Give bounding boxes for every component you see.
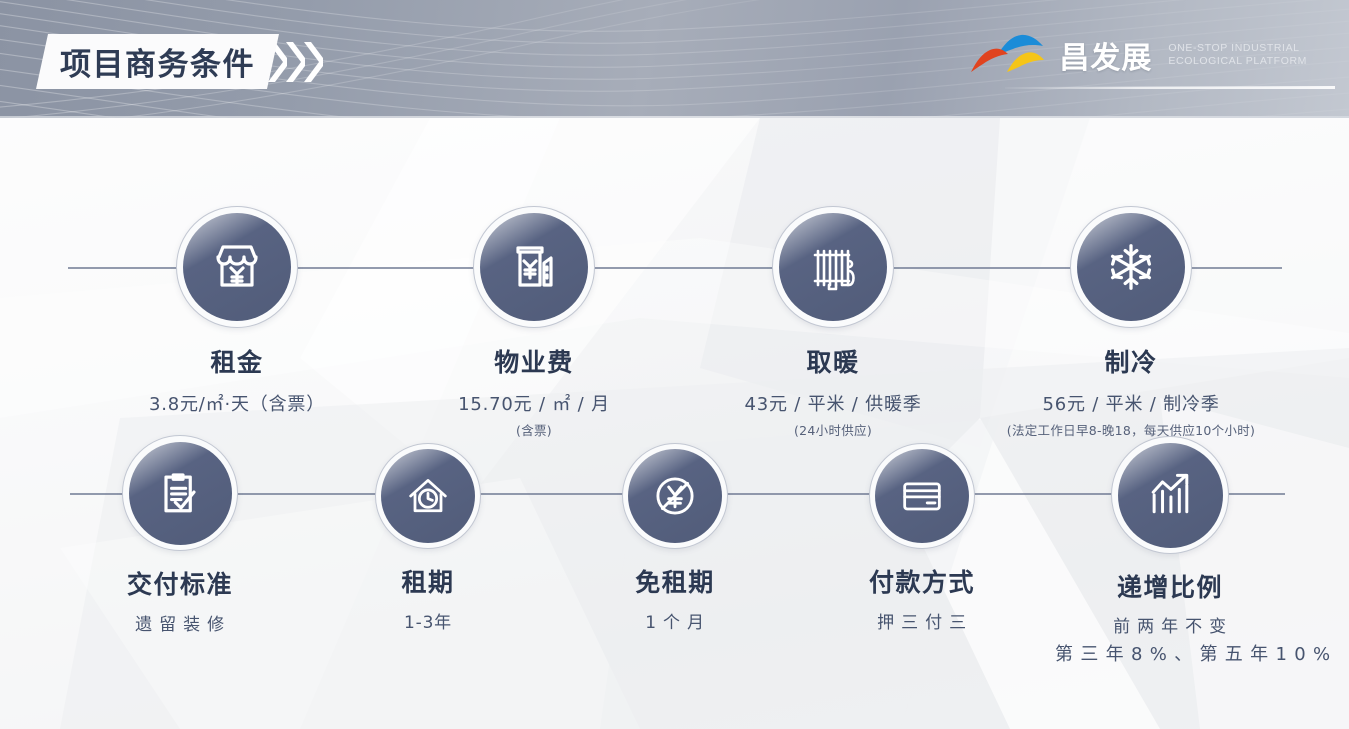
changfazhan-triangles-logo-icon bbox=[969, 32, 1047, 78]
chevron-group bbox=[269, 40, 323, 84]
growth-bar-chart-icon bbox=[1142, 467, 1198, 523]
rent-free-value: 1 个 月 bbox=[565, 608, 785, 633]
lease-term-icon-circle[interactable] bbox=[375, 443, 481, 549]
node-payment-method[interactable]: 付款方式 押 三 付 三 bbox=[812, 443, 1032, 633]
brand-logo: 昌发展 ONE-STOP INDUSTRIAL ECOLOGICAL PLATF… bbox=[969, 32, 1307, 78]
node-lease-term[interactable]: 租期 1-3年 bbox=[318, 443, 538, 633]
rent-label: 租金 bbox=[97, 343, 377, 379]
rent-free-label: 免租期 bbox=[565, 563, 785, 599]
rent-free-icon-circle[interactable] bbox=[622, 443, 728, 549]
node-increment-ratio[interactable]: 递增比例 前 两 年 不 变 第 三 年 8 % 、 第 五 年 1 0 % bbox=[1055, 436, 1285, 666]
node-cooling[interactable]: 制冷 56元 / 平米 / 制冷季 (法定工作日早8-晚18，每天供应10个小时… bbox=[991, 206, 1271, 439]
node-rent-free-period[interactable]: 免租期 1 个 月 bbox=[565, 443, 785, 633]
brand-tagline: ONE-STOP INDUSTRIAL ECOLOGICAL PLATFORM bbox=[1168, 42, 1307, 68]
increment-ratio-label: 递增比例 bbox=[1055, 568, 1285, 604]
increment-ratio-value: 前 两 年 不 变 bbox=[1055, 612, 1285, 637]
heating-note: (24小时供应) bbox=[693, 420, 973, 439]
delivery-standard-label: 交付标准 bbox=[60, 565, 300, 601]
property-fee-value: 15.70元 / ㎡ / 月 bbox=[394, 390, 674, 416]
property-fee-label: 物业费 bbox=[394, 343, 674, 379]
invoice-yuan-building-icon bbox=[504, 237, 564, 297]
property-fee-note: (含票) bbox=[394, 420, 674, 439]
increment-ratio-icon-circle[interactable] bbox=[1111, 436, 1229, 554]
brand-tagline-line1: ONE-STOP INDUSTRIAL bbox=[1168, 42, 1299, 54]
cooling-label: 制冷 bbox=[991, 343, 1271, 379]
radiator-heater-icon bbox=[803, 237, 863, 297]
heating-value: 43元 / 平米 / 供暖季 bbox=[693, 390, 973, 416]
property-fee-icon-circle[interactable] bbox=[473, 206, 595, 328]
node-delivery-standard[interactable]: 交付标准 遗 留 装 修 bbox=[60, 435, 300, 635]
house-clock-icon bbox=[402, 470, 454, 522]
chevron-right-icon bbox=[302, 40, 323, 84]
lease-term-value: 1-3年 bbox=[318, 608, 538, 633]
node-heating[interactable]: 取暖 43元 / 平米 / 供暖季 (24小时供应) bbox=[693, 206, 973, 439]
snowflake-icon bbox=[1102, 238, 1160, 296]
no-yuan-icon bbox=[648, 469, 702, 523]
brand-name-cn: 昌发展 bbox=[1059, 33, 1152, 77]
payment-method-icon-circle[interactable] bbox=[869, 443, 975, 549]
page-title-banner: 项目商务条件 bbox=[36, 34, 323, 89]
credit-card-icon bbox=[896, 470, 948, 522]
content-rows: 租金 3.8元/㎡·天（含票） bbox=[0, 118, 1349, 729]
heating-icon-circle[interactable] bbox=[772, 206, 894, 328]
clipboard-check-icon bbox=[152, 465, 208, 521]
rent-icon-circle[interactable] bbox=[176, 206, 298, 328]
increment-ratio-value2: 第 三 年 8 % 、 第 五 年 1 0 % bbox=[1055, 640, 1285, 666]
delivery-standard-value: 遗 留 装 修 bbox=[60, 610, 300, 635]
shop-storefront-icon bbox=[207, 237, 267, 297]
page-title: 项目商务条件 bbox=[60, 39, 255, 84]
node-rent[interactable]: 租金 3.8元/㎡·天（含票） bbox=[97, 206, 377, 416]
title-plate: 项目商务条件 bbox=[36, 34, 279, 89]
heating-label: 取暖 bbox=[693, 343, 973, 379]
brand-tagline-line2: ECOLOGICAL PLATFORM bbox=[1168, 55, 1307, 67]
cooling-icon-circle[interactable] bbox=[1070, 206, 1192, 328]
slide-header: 项目商务条件 昌发展 ONE-STOP INDUSTRIAL ECOLOGICA… bbox=[0, 0, 1349, 118]
rent-value: 3.8元/㎡·天（含票） bbox=[97, 390, 377, 416]
payment-method-value: 押 三 付 三 bbox=[812, 608, 1032, 633]
node-property-fee[interactable]: 物业费 15.70元 / ㎡ / 月 (含票) bbox=[394, 206, 674, 439]
cooling-value: 56元 / 平米 / 制冷季 bbox=[991, 390, 1271, 416]
delivery-standard-icon-circle[interactable] bbox=[122, 435, 238, 551]
lease-term-label: 租期 bbox=[318, 563, 538, 599]
logo-underline-decoration bbox=[1005, 86, 1335, 89]
payment-method-label: 付款方式 bbox=[812, 563, 1032, 599]
